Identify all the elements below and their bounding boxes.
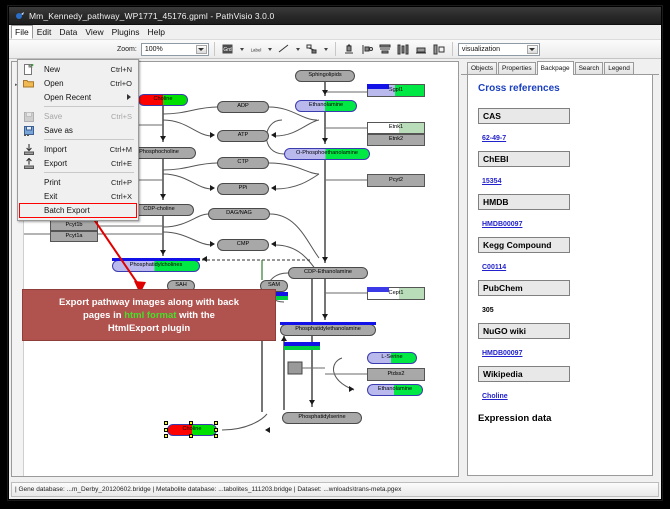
node-ethanolamine-top[interactable]: Ethanolamine bbox=[295, 100, 357, 112]
node-label: Etnk2 bbox=[389, 137, 403, 143]
arrowhead-down bbox=[160, 194, 166, 199]
visualization-value: visualization bbox=[462, 46, 500, 53]
toolbar-separator bbox=[214, 42, 215, 56]
node-phosphatidylserine[interactable]: Phosphatidylserine bbox=[282, 412, 362, 424]
menu-item-new-accel: Ctrl+N bbox=[111, 65, 132, 74]
node-label: O-Phosphoethanolamine bbox=[296, 151, 358, 157]
node-choline-top[interactable]: Choline bbox=[138, 94, 188, 106]
node-label: Phosphocholine bbox=[139, 150, 179, 156]
submenu-arrow-icon bbox=[127, 94, 131, 100]
svg-text:Label: Label bbox=[250, 47, 261, 52]
import-icon bbox=[23, 144, 34, 155]
xref-value-wikipedia[interactable]: Choline bbox=[482, 393, 508, 400]
xref-value-chebi[interactable]: 15354 bbox=[482, 178, 501, 185]
node-label: PPi bbox=[239, 186, 248, 192]
expression-data-title: Expression data bbox=[478, 413, 642, 424]
node-label: SAH bbox=[175, 283, 187, 289]
node-label: Cept1 bbox=[389, 291, 404, 297]
export-icon bbox=[23, 158, 34, 169]
node-label: Pcyt1a bbox=[65, 234, 82, 240]
menu-item-save-label: Save bbox=[44, 112, 62, 121]
annotation-callout: Export pathway images along with back pa… bbox=[22, 289, 276, 341]
open-folder-icon bbox=[23, 78, 34, 89]
arrowhead-down bbox=[160, 136, 166, 141]
node-l-serine[interactable]: L-Serine bbox=[367, 352, 417, 364]
selection-handle[interactable] bbox=[214, 434, 218, 438]
save-as-icon bbox=[23, 125, 34, 136]
node-label: Etnk1 bbox=[389, 125, 403, 131]
xref-value-hmdb[interactable]: HMDB00097 bbox=[482, 221, 522, 228]
anchor-tool-button[interactable] bbox=[304, 42, 320, 57]
node-dag-nag[interactable]: DAG/NAG bbox=[208, 208, 270, 220]
node-adp[interactable]: ADP bbox=[217, 101, 269, 113]
selection-handle[interactable] bbox=[189, 434, 193, 438]
arrowhead-right bbox=[210, 241, 215, 247]
node-ethanolamine-bottom[interactable]: Ethanolamine bbox=[367, 384, 423, 396]
menu-item-save: Save Ctrl+S bbox=[18, 109, 138, 123]
visualization-strip bbox=[367, 287, 389, 292]
node-label: Pcyt2 bbox=[389, 178, 403, 184]
node-label: Phosphatidylserine bbox=[298, 415, 345, 421]
distribute-vertical-button[interactable] bbox=[377, 42, 393, 57]
menu-item-print[interactable]: Print Ctrl+P bbox=[18, 175, 138, 189]
application-window: Mm_Kennedy_pathway_WP1771_45176.gpml - P… bbox=[8, 6, 662, 500]
node-label: SAM bbox=[268, 283, 280, 289]
node-label: Pcyt1b bbox=[65, 223, 82, 229]
node-label: Ethanolamine bbox=[378, 387, 412, 393]
menu-item-export[interactable]: Export Ctrl+E bbox=[18, 156, 138, 170]
node-sphingolipids[interactable]: Sphingolipids bbox=[295, 70, 355, 82]
menu-item-batch-export[interactable]: Batch Export bbox=[19, 203, 137, 218]
arrowhead-left bbox=[271, 132, 276, 138]
node-ctp[interactable]: CTP bbox=[217, 157, 269, 169]
visualization-strip bbox=[367, 84, 389, 89]
line-tool-button[interactable] bbox=[276, 42, 292, 57]
cross-references-title: Cross references bbox=[478, 83, 642, 94]
menu-item-open-label: Open bbox=[44, 79, 64, 88]
node-cdp-ethanolamine[interactable]: CDP-Ethanolamine bbox=[288, 267, 368, 279]
xref-header-hmdb: HMDB bbox=[478, 194, 570, 210]
callout-line3: HtmlExport plugin bbox=[108, 323, 190, 334]
node-label: CDP-choline bbox=[143, 207, 174, 213]
selection-handle[interactable] bbox=[164, 428, 168, 432]
node-label: Choline bbox=[183, 427, 202, 433]
grid-button[interactable]: Grd bbox=[220, 42, 236, 57]
zoom-combobox[interactable]: 100% bbox=[141, 43, 209, 56]
node-label: Sgpl1 bbox=[389, 88, 403, 94]
menu-item-import-accel: Ctrl+M bbox=[110, 145, 132, 154]
tab-search[interactable]: Search bbox=[575, 62, 604, 74]
selection-handle[interactable] bbox=[214, 421, 218, 425]
arrowhead-up bbox=[281, 336, 287, 341]
menu-item-open-recent-label: Open Recent bbox=[44, 93, 91, 102]
menu-item-save-as[interactable]: Save as bbox=[18, 123, 138, 137]
align-top-button[interactable] bbox=[341, 42, 357, 57]
arrowhead-down bbox=[322, 257, 328, 262]
arrowhead-right bbox=[210, 132, 215, 138]
grid-dropdown-icon[interactable] bbox=[238, 42, 246, 57]
menu-item-open-recent[interactable]: Open Recent bbox=[18, 90, 138, 104]
node-ppi[interactable]: PPi bbox=[217, 183, 269, 195]
tab-legend[interactable]: Legend bbox=[604, 62, 634, 74]
anchor-dropdown-icon[interactable] bbox=[322, 42, 330, 57]
menu-item-new-label: New bbox=[44, 65, 60, 74]
pathvisio-icon bbox=[14, 10, 25, 21]
selection-handle[interactable] bbox=[189, 421, 193, 425]
menu-item-save-as-label: Save as bbox=[44, 126, 73, 135]
node-label: CTP bbox=[237, 160, 248, 166]
menu-bar: File Edit Data View Plugins Help bbox=[9, 25, 661, 40]
node-o-phosphoethanolamine[interactable]: O-Phosphoethanolamine bbox=[284, 148, 370, 160]
node-label: Ethanolamine bbox=[309, 103, 343, 109]
tab-properties[interactable]: Properties bbox=[498, 62, 536, 74]
menu-separator-2 bbox=[44, 139, 134, 140]
menu-item-exit-accel: Ctrl+X bbox=[111, 192, 132, 201]
node-ptdss2[interactable]: Ptdss2 bbox=[367, 368, 425, 381]
menu-item-batch-export-label: Batch Export bbox=[44, 206, 90, 215]
arrowhead-left bbox=[271, 241, 276, 247]
align-left-button[interactable] bbox=[359, 42, 375, 57]
backpage-content: Cross references CAS 62-49-7 ChEBI 15354… bbox=[467, 75, 653, 476]
menu-item-open[interactable]: Open Ctrl+O bbox=[18, 76, 138, 90]
node-cmp[interactable]: CMP bbox=[217, 239, 269, 251]
menu-help[interactable]: Help bbox=[144, 25, 169, 39]
side-panel: ⁞ Objects Properties Backpage Search Leg… bbox=[461, 61, 659, 477]
menu-item-print-label: Print bbox=[44, 178, 60, 187]
menu-plugins[interactable]: Plugins bbox=[108, 25, 144, 39]
arrowhead-down bbox=[322, 314, 328, 319]
size-common-button[interactable] bbox=[413, 42, 429, 57]
node-etnk1[interactable]: Etnk1 bbox=[367, 122, 425, 134]
visualization-strip bbox=[284, 346, 320, 350]
menu-item-open-accel: Ctrl+O bbox=[110, 79, 132, 88]
menu-item-import[interactable]: Import Ctrl+M bbox=[18, 142, 138, 156]
status-bar-text: | Gene database: ...m_Derby_20120602.bri… bbox=[15, 486, 401, 493]
xref-value-cas[interactable]: 62-49-7 bbox=[482, 135, 506, 142]
menu-edit[interactable]: Edit bbox=[33, 25, 56, 39]
distribute-horizontal-button[interactable] bbox=[395, 42, 411, 57]
zoom-label: Zoom: bbox=[117, 46, 137, 53]
callout-line1: Export pathway images along with back bbox=[59, 297, 239, 308]
node-label: Phosphatidylcholines bbox=[130, 263, 183, 269]
xref-header-wikipedia: Wikipedia bbox=[478, 366, 570, 382]
arrowhead-left bbox=[271, 185, 276, 191]
tab-backpage[interactable]: Backpage bbox=[537, 61, 574, 75]
arrowhead-down bbox=[322, 90, 328, 95]
node-label: L-Serine bbox=[381, 355, 402, 361]
selection-handle[interactable] bbox=[164, 434, 168, 438]
node-phosphatidylcholines[interactable]: Phosphatidylcholines bbox=[112, 260, 200, 272]
callout-line2-prefix: pages in bbox=[83, 310, 124, 321]
node-atp[interactable]: ATP bbox=[217, 130, 269, 142]
xref-header-nugo-wiki: NuGO wiki bbox=[478, 323, 570, 339]
svg-text:Grd: Grd bbox=[224, 47, 233, 53]
menu-item-new[interactable]: New Ctrl+N bbox=[18, 62, 138, 76]
menu-item-print-accel: Ctrl+P bbox=[111, 178, 132, 187]
node-label: CDP-Ethanolamine bbox=[304, 270, 352, 276]
toolbar: Zoom: 100% Grd Label bbox=[9, 40, 661, 59]
visualization-strip bbox=[280, 322, 376, 325]
node-label: Ptdss2 bbox=[387, 372, 404, 378]
node-label: Phosphatidylethanolamine bbox=[295, 327, 361, 333]
menu-item-exit-label: Exit bbox=[44, 192, 57, 201]
menu-item-export-label: Export bbox=[44, 159, 67, 168]
node-label: Sphingolipids bbox=[308, 73, 341, 79]
xref-value-kegg-compound[interactable]: C00114 bbox=[482, 264, 506, 271]
panel-tabstrip: Objects Properties Backpage Search Legen… bbox=[461, 61, 659, 75]
node-pcyt1b[interactable]: Pcyt1b bbox=[50, 220, 98, 231]
bring-to-front-button[interactable] bbox=[431, 42, 447, 57]
menu-item-export-accel: Ctrl+E bbox=[111, 159, 132, 168]
node-etnk2[interactable]: Etnk2 bbox=[367, 134, 425, 146]
title-bar: Mm_Kennedy_pathway_WP1771_45176.gpml - P… bbox=[9, 7, 661, 25]
callout-line2-suffix: with the bbox=[176, 310, 215, 321]
arrowhead-right bbox=[349, 386, 354, 392]
menu-separator bbox=[44, 106, 134, 107]
menu-item-import-label: Import bbox=[44, 145, 67, 154]
menu-item-exit[interactable]: Exit Ctrl+X bbox=[18, 189, 138, 203]
arrowhead-down bbox=[322, 138, 328, 143]
node-label: ADP bbox=[237, 104, 249, 110]
node-label: CMP bbox=[237, 242, 249, 248]
node-phosphatidylethanolamine[interactable]: Phosphatidylethanolamine bbox=[280, 324, 376, 336]
arrowhead-right bbox=[210, 185, 215, 191]
xref-header-chebi: ChEBI bbox=[478, 151, 570, 167]
visualization-chevron-down-icon[interactable] bbox=[527, 45, 538, 54]
new-document-icon bbox=[23, 64, 34, 75]
menu-separator-3 bbox=[44, 172, 134, 173]
menu-data[interactable]: Data bbox=[55, 25, 81, 39]
node-label: ATP bbox=[238, 133, 248, 139]
arrowhead-down bbox=[160, 250, 166, 255]
arrowhead-left bbox=[202, 256, 207, 262]
zoom-value: 100% bbox=[145, 46, 163, 53]
visualization-combobox[interactable]: visualization bbox=[458, 43, 540, 56]
chevron-down-icon[interactable] bbox=[196, 45, 207, 54]
callout-line2-highlight: html format bbox=[124, 310, 176, 321]
visualization-strip bbox=[112, 258, 200, 261]
arrowhead-left bbox=[265, 427, 270, 433]
toolbar-separator-2 bbox=[335, 42, 336, 56]
screenshot-root: Mm_Kennedy_pathway_WP1771_45176.gpml - P… bbox=[0, 0, 670, 509]
arrowhead-down bbox=[309, 400, 315, 405]
line-dropdown-icon[interactable] bbox=[294, 42, 302, 57]
node-pcyt2[interactable]: Pcyt2 bbox=[367, 174, 425, 187]
node-pcyt1a[interactable]: Pcyt1a bbox=[50, 231, 98, 242]
file-menu-dropdown[interactable]: New Ctrl+N Open Ctrl+O Open Recent Save bbox=[17, 59, 139, 221]
xref-value-pubchem: 305 bbox=[482, 307, 494, 314]
selection-handle[interactable] bbox=[164, 421, 168, 425]
status-bar: | Gene database: ...m_Derby_20120602.bri… bbox=[11, 482, 659, 497]
save-disk-icon bbox=[23, 111, 34, 122]
selection-handle[interactable] bbox=[214, 428, 218, 432]
menu-file[interactable]: File bbox=[11, 25, 33, 39]
xref-header-cas: CAS bbox=[478, 108, 570, 124]
label-tool-button[interactable]: Label bbox=[248, 42, 264, 57]
xref-header-kegg-compound: Kegg Compound bbox=[478, 237, 570, 253]
xref-value-nugo-wiki[interactable]: HMDB00097 bbox=[482, 350, 522, 357]
xref-header-pubchem: PubChem bbox=[478, 280, 570, 296]
toolbar-separator-3 bbox=[452, 42, 453, 56]
menu-view[interactable]: View bbox=[81, 25, 107, 39]
menu-item-save-accel: Ctrl+S bbox=[111, 112, 132, 121]
node-label: DAG/NAG bbox=[226, 211, 252, 217]
tab-objects[interactable]: Objects bbox=[467, 62, 497, 74]
node-label: Choline bbox=[154, 97, 173, 103]
window-title: Mm_Kennedy_pathway_WP1771_45176.gpml - P… bbox=[29, 11, 274, 21]
label-dropdown-icon[interactable] bbox=[266, 42, 274, 57]
